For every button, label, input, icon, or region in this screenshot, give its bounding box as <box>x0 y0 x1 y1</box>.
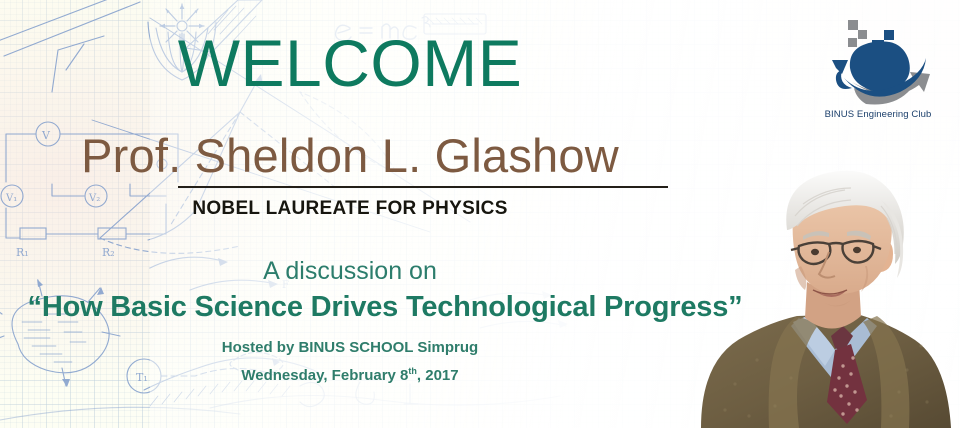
host-line: Hosted by BINUS SCHOOL Simprug <box>0 339 700 357</box>
banner-text-content: WELCOME Prof. Sheldon L. Glashow NOBEL L… <box>0 0 700 428</box>
talk-topic: “How Basic Science Drives Technological … <box>0 292 770 324</box>
speaker-credential: NOBEL LAUREATE FOR PHYSICS <box>0 198 700 221</box>
divider-rule <box>178 186 668 188</box>
binus-engineering-club-logo: BINUS Engineering Club <box>808 8 948 132</box>
event-date: Wednesday, February 8th, 2017 <box>0 366 700 385</box>
speaker-name: Prof. Sheldon L. Glashow <box>0 132 700 179</box>
club-emblem-icon <box>822 8 934 108</box>
date-ordinal: th <box>408 366 417 376</box>
discussion-label: A discussion on <box>0 258 700 286</box>
event-banner: V V₁ V₂ R₁ R₂ <box>0 0 960 428</box>
welcome-headline: WELCOME <box>0 30 700 96</box>
logo-caption: BINUS Engineering Club <box>808 109 948 120</box>
date-main: Wednesday, February 8 <box>241 367 408 384</box>
date-year: , 2017 <box>417 367 459 384</box>
